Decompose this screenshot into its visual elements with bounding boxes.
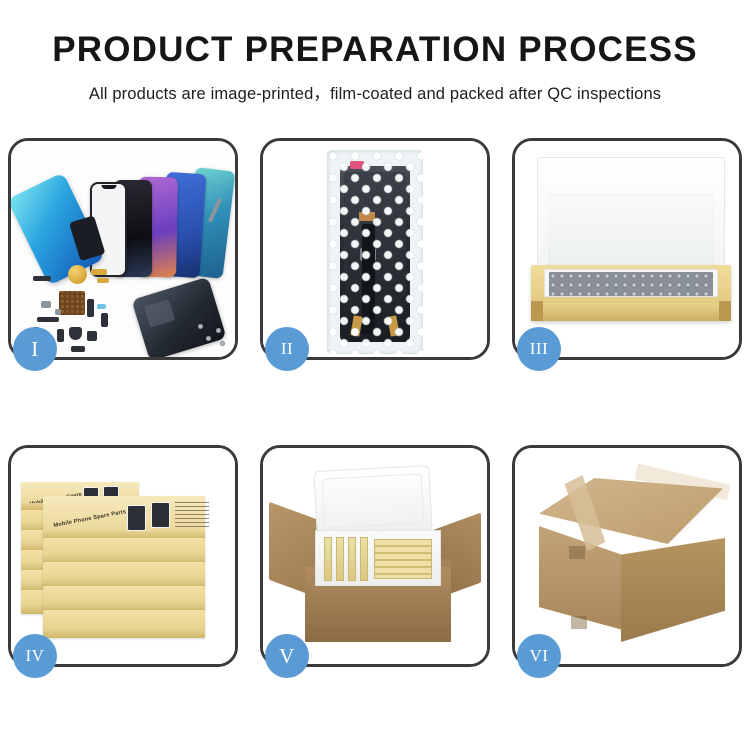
spare-part bbox=[57, 329, 64, 342]
phone-back-housing bbox=[131, 277, 226, 357]
box-spec-lines bbox=[175, 502, 209, 528]
step-panel-2: II bbox=[260, 138, 490, 360]
yellow-box-upright bbox=[348, 537, 356, 581]
step-panel-3: III bbox=[512, 138, 742, 360]
screw bbox=[198, 324, 203, 329]
step-6-image bbox=[515, 448, 739, 664]
product-preparation-process-infographic: PRODUCT PREPARATION PROCESS All products… bbox=[0, 0, 750, 750]
step-badge-4: IV bbox=[13, 634, 57, 678]
step-2-image bbox=[263, 141, 487, 357]
retail-box: Mobile Phone Spare Parts bbox=[43, 496, 205, 540]
header: PRODUCT PREPARATION PROCESS All products… bbox=[0, 0, 750, 104]
retail-box bbox=[43, 586, 205, 612]
spare-part bbox=[101, 313, 108, 327]
foam-lid bbox=[313, 465, 432, 537]
box-side-left bbox=[531, 301, 543, 321]
box-side-right bbox=[719, 301, 731, 321]
yellow-box-upright bbox=[324, 537, 332, 581]
screw bbox=[220, 341, 225, 346]
chip-grid-part bbox=[59, 291, 85, 315]
spare-part bbox=[87, 331, 97, 341]
box-front-lip bbox=[531, 303, 731, 321]
spare-part bbox=[97, 278, 109, 283]
scene-yellow-box-stacks: Mobile Phone Spare Parts Mobile Phone Sp… bbox=[11, 448, 235, 664]
carton-right-face bbox=[621, 538, 725, 642]
spare-part bbox=[41, 301, 51, 308]
step-badge-5: V bbox=[265, 634, 309, 678]
scene-carton-with-foam bbox=[263, 448, 487, 664]
bubble-wrapped-contents bbox=[549, 272, 713, 296]
yellow-box-upright bbox=[360, 537, 368, 581]
screw bbox=[206, 336, 211, 341]
phone-notch-icon bbox=[101, 185, 116, 189]
step-badge-6: VI bbox=[517, 634, 561, 678]
carton-tab bbox=[571, 616, 587, 629]
step-panel-5: V bbox=[260, 445, 490, 667]
box-phone-graphic bbox=[151, 502, 170, 528]
retail-box bbox=[43, 538, 205, 564]
box-phone-graphic bbox=[127, 505, 146, 531]
yellow-box-layer bbox=[374, 539, 432, 579]
foam-box-inside bbox=[315, 530, 441, 586]
scene-sealed-carton bbox=[515, 448, 739, 664]
spare-part bbox=[97, 304, 106, 309]
spare-part bbox=[91, 269, 107, 275]
spare-part bbox=[33, 276, 51, 281]
step-panel-4: Mobile Phone Spare Parts Mobile Phone Sp… bbox=[8, 445, 238, 667]
page-subtitle: All products are image-printed，film-coat… bbox=[0, 80, 750, 104]
scene-bubble-wrapped-lcd bbox=[263, 141, 487, 357]
box-edge bbox=[43, 629, 205, 638]
page-title: PRODUCT PREPARATION PROCESS bbox=[0, 30, 750, 70]
process-steps-grid: I bbox=[8, 138, 742, 667]
carton-left-face bbox=[539, 526, 623, 630]
step-panel-6: VI bbox=[512, 445, 742, 667]
foam-lid bbox=[537, 157, 725, 273]
yellow-box-tray bbox=[531, 265, 731, 321]
spare-part bbox=[55, 309, 61, 315]
step-1-image bbox=[11, 141, 235, 357]
bubble-texture bbox=[327, 150, 423, 354]
step-3-image bbox=[515, 141, 739, 357]
scene-phones-and-parts bbox=[11, 141, 235, 357]
step-panel-1: I bbox=[8, 138, 238, 360]
step-badge-1: I bbox=[13, 327, 57, 371]
step-badge-3: III bbox=[517, 327, 561, 371]
retail-box bbox=[43, 610, 205, 638]
scene-open-yellow-box bbox=[515, 141, 739, 357]
spare-part bbox=[69, 327, 82, 340]
step-badge-2: II bbox=[265, 327, 309, 371]
step-4-image: Mobile Phone Spare Parts Mobile Phone Sp… bbox=[11, 448, 235, 664]
spare-part bbox=[71, 346, 85, 352]
gold-coil-part bbox=[68, 265, 87, 284]
retail-box bbox=[43, 562, 205, 588]
spare-part bbox=[87, 299, 94, 317]
spare-part bbox=[37, 317, 59, 322]
yellow-box-upright bbox=[336, 537, 344, 581]
step-5-image bbox=[263, 448, 487, 664]
bubble-wrap-bag bbox=[327, 150, 423, 354]
screw bbox=[216, 328, 221, 333]
carton-tab bbox=[569, 546, 585, 559]
